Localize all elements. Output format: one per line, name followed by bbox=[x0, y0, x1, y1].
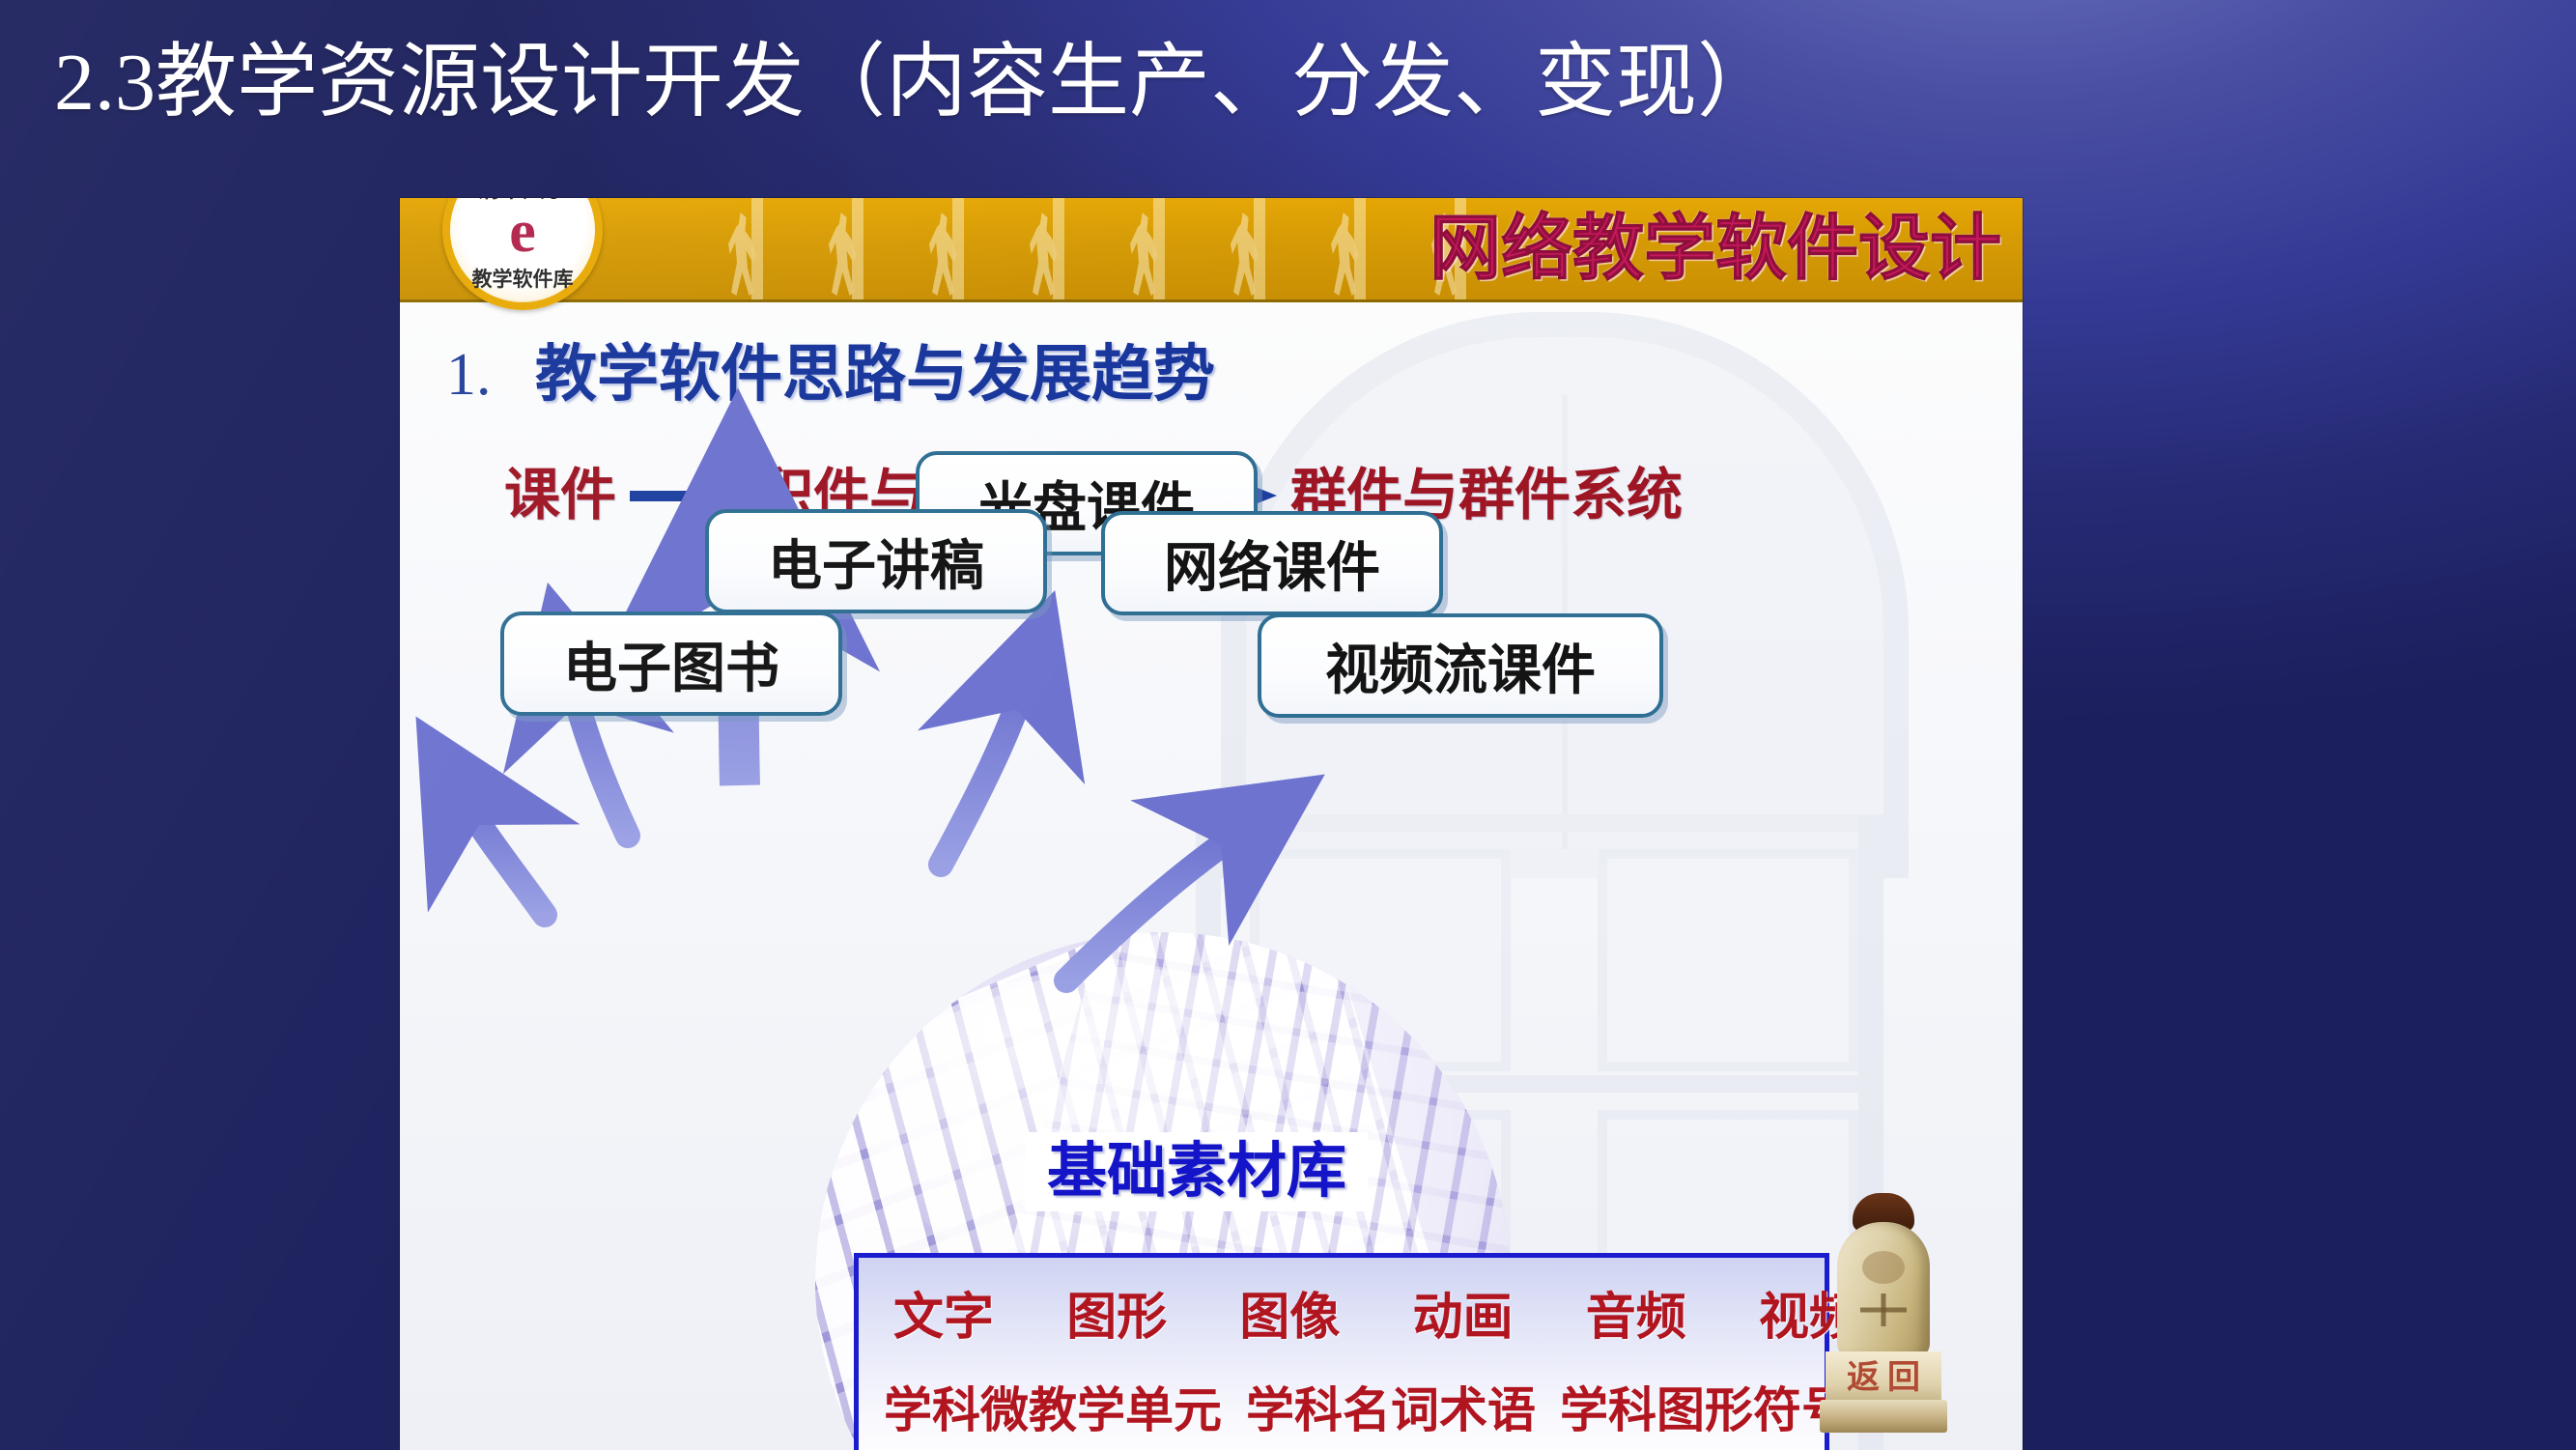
embedded-slide-image: 网络教学软件设计 清华大学 e 教学软件库 1. 教学软件思路与发展趋势 课件 … bbox=[400, 198, 2023, 1450]
seal-body-icon bbox=[1837, 1222, 1930, 1357]
media-cell: 动画 bbox=[1413, 1276, 1514, 1349]
runner-silhouettes bbox=[719, 198, 1482, 299]
node-web-courseware[interactable]: 网络课件 bbox=[1101, 511, 1443, 615]
tsinghua-logo-icon: 清华大学 e 教学软件库 bbox=[442, 198, 603, 310]
media-cell: 学科微教学单元 bbox=[884, 1372, 1222, 1441]
media-row-discipline: 学科微教学单元 学科名词术语 学科图形符号 bbox=[859, 1360, 1875, 1450]
media-row-basic: 文字 图形 图像 动画 音频 视频 bbox=[859, 1258, 1894, 1360]
presentation-slide: 2.3教学资源设计开发（内容生产、分发、变现） bbox=[0, 0, 2576, 1450]
node-stream-courseware[interactable]: 视频流课件 bbox=[1258, 613, 1663, 718]
node-label: 网络课件 bbox=[1164, 525, 1380, 603]
node-electure[interactable]: 电子讲稿 bbox=[705, 509, 1047, 613]
node-ebook[interactable]: 电子图书 bbox=[500, 611, 842, 716]
page-title: 2.3教学资源设计开发（内容生产、分发、变现） bbox=[54, 37, 2527, 129]
banner-title: 网络教学软件设计 bbox=[1430, 210, 2001, 289]
media-cell: 图形 bbox=[1066, 1276, 1167, 1349]
seal-plinth: 返 回 bbox=[1826, 1351, 1941, 1406]
node-label: 电子图书 bbox=[563, 625, 779, 703]
media-cell: 学科名词术语 bbox=[1246, 1372, 1536, 1441]
return-label-char-2: 回 bbox=[1887, 1362, 1920, 1395]
section-number: 1. bbox=[446, 345, 492, 405]
return-seal-button[interactable]: 返 回 bbox=[1820, 1193, 1947, 1433]
logo-bottom-text: 教学软件库 bbox=[450, 264, 595, 293]
media-cell: 图像 bbox=[1239, 1276, 1340, 1349]
node-label: 视频流课件 bbox=[1325, 627, 1596, 705]
evolution-step-1: 课件 bbox=[504, 465, 616, 526]
media-cell: 文字 bbox=[893, 1276, 994, 1349]
node-label: 电子讲稿 bbox=[768, 523, 984, 601]
right-arrow-icon bbox=[630, 483, 744, 508]
return-label-char-1: 返 bbox=[1847, 1362, 1880, 1395]
slide-banner: 网络教学软件设计 清华大学 e 教学软件库 bbox=[400, 198, 2023, 302]
seal-base bbox=[1820, 1400, 1947, 1433]
media-cell: 学科图形符号 bbox=[1560, 1372, 1850, 1441]
library-caption: 基础素材库 bbox=[1026, 1132, 1368, 1211]
section-heading: 教学软件思路与发展趋势 bbox=[535, 343, 1215, 407]
logo-monogram: e bbox=[450, 202, 595, 262]
media-type-table: 文字 图形 图像 动画 音频 视频 学科微教学单元 学科名词术语 学科图形符号 bbox=[854, 1253, 1829, 1450]
media-cell: 音频 bbox=[1586, 1276, 1686, 1349]
